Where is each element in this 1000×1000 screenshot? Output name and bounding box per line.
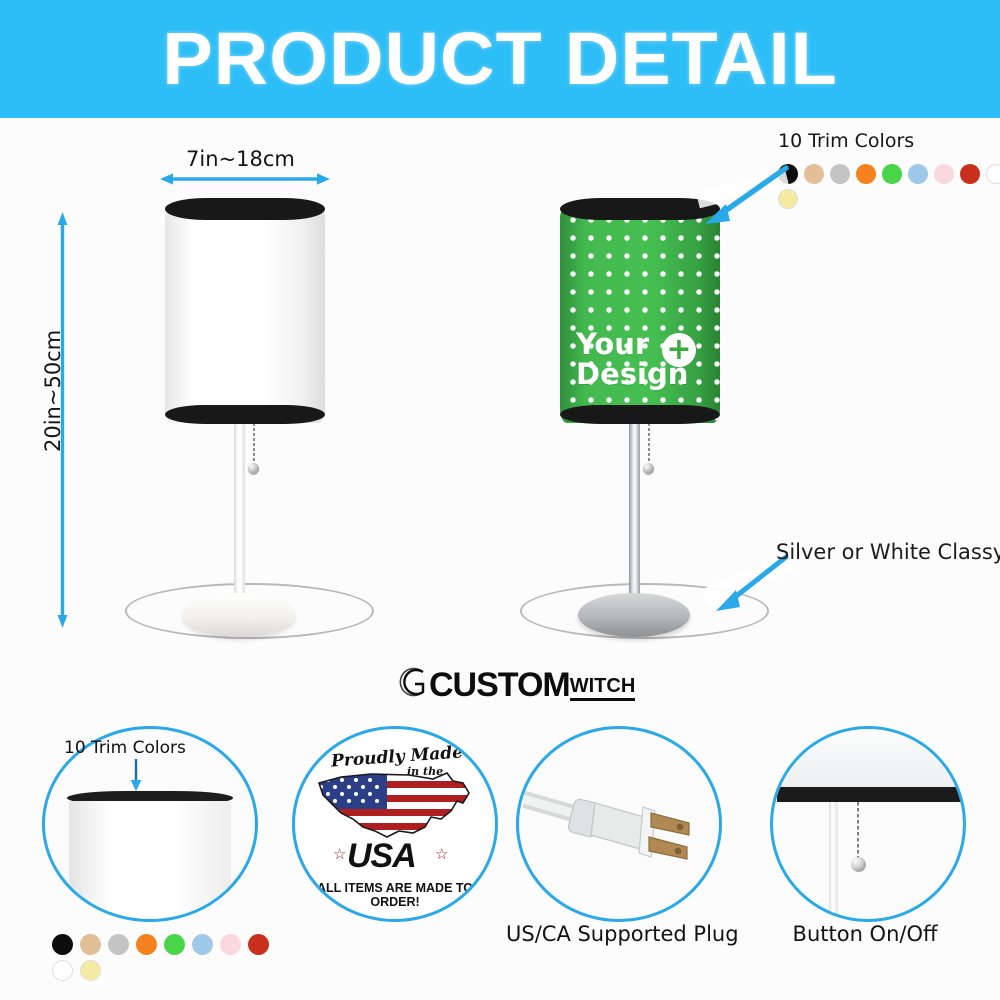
- trim-colors-top-title: 10 Trim Colors: [778, 130, 1000, 152]
- plus-glyph: +: [666, 337, 691, 363]
- feature-trim-title: 10 Trim Colors: [64, 738, 186, 758]
- trim-swatch-tan[interactable]: [804, 164, 824, 184]
- brand-name-sub: WITCH: [570, 675, 636, 701]
- brand-name-main: CUSTOM: [429, 669, 570, 701]
- feature-circle-plug: [516, 726, 722, 922]
- trim-color-swatches-bottom: [52, 934, 282, 981]
- feature-switch: Button On/Off: [770, 726, 1000, 976]
- trim-swatch-green[interactable]: [882, 164, 902, 184]
- brand-mark-icon: [398, 665, 432, 699]
- lamp-shade-white: [165, 205, 325, 423]
- pull-chain: [648, 423, 650, 467]
- shade-bottom-sample: [770, 726, 966, 791]
- usa-big-text: USA: [347, 837, 416, 876]
- header-banner: PRODUCT DETAIL: [0, 0, 1000, 118]
- shade-surface: Your Design +: [560, 205, 720, 423]
- lamp-pole: [234, 423, 245, 613]
- power-plug-icon: [523, 759, 715, 889]
- plus-icon: +: [662, 333, 696, 367]
- lamp-pole: [629, 423, 640, 613]
- lamp-white: [95, 195, 395, 645]
- trim-swatch-gray[interactable]: [830, 164, 850, 184]
- shade-surface: [165, 205, 325, 423]
- base-finish-label: Silver or White Classy: [776, 540, 1000, 564]
- trim-swatch-tan[interactable]: [80, 934, 101, 955]
- lamp-pole-sample: [829, 802, 838, 920]
- shade-trim-bottom: [165, 405, 325, 424]
- pull-chain-ball: [643, 463, 654, 474]
- trim-swatch-red[interactable]: [248, 934, 269, 955]
- trim-swatch-pink[interactable]: [220, 934, 241, 955]
- feature-made-in-usa: Proudly Made in the: [292, 726, 502, 926]
- pull-chain: [253, 423, 255, 467]
- pull-chain-ball: [248, 463, 259, 474]
- shade-surface-sample: [69, 801, 231, 921]
- page-title: PRODUCT DETAIL: [162, 22, 837, 96]
- lamp-base: [183, 593, 295, 637]
- usa-subtitle: ALL ITEMS ARE MADE TO ORDER!: [301, 881, 489, 909]
- trim-swatch-light-blue[interactable]: [192, 934, 213, 955]
- feature-plug: US/CA Supported Plug: [516, 726, 766, 976]
- brand-logo: CUSTOM WITCH: [398, 665, 635, 701]
- trim-colors-top-group: 10 Trim Colors: [778, 130, 1000, 209]
- feature-switch-caption: Button On/Off: [770, 922, 960, 946]
- usa-star-left: ☆: [333, 845, 346, 863]
- trim-swatch-gray[interactable]: [108, 934, 129, 955]
- trim-swatch-green[interactable]: [164, 934, 185, 955]
- trim-swatch-pink[interactable]: [934, 164, 954, 184]
- shade-trim-top: [165, 198, 325, 220]
- trim-swatch-white[interactable]: [52, 960, 73, 981]
- trim-swatch-light-blue[interactable]: [908, 164, 928, 184]
- trim-swatch-pale-yellow[interactable]: [80, 960, 101, 981]
- height-dimension-label: 20in~50cm: [41, 332, 65, 452]
- trim-swatch-orange[interactable]: [856, 164, 876, 184]
- width-dimension-label: 7in~18cm: [186, 147, 295, 171]
- infographic-canvas: PRODUCT DETAIL 10 Trim Colors 20in~50cm …: [0, 0, 1000, 1000]
- trim-down-arrow-icon: [128, 759, 144, 791]
- shade-trim-bottom: [560, 405, 720, 424]
- shade-trim-sample: [777, 787, 963, 802]
- width-dimension-arrow: [160, 172, 330, 186]
- trim-swatch-red[interactable]: [960, 164, 980, 184]
- lamp-shade-green: Your Design +: [560, 205, 720, 423]
- pull-chain-sample: [857, 802, 859, 862]
- trim-swatch-black[interactable]: [52, 934, 73, 955]
- lamp-base: [578, 593, 690, 637]
- usa-map-flag-icon: [313, 767, 477, 847]
- feature-circle-usa: Proudly Made in the: [292, 726, 498, 922]
- trim-swatch-white[interactable]: [986, 164, 1000, 184]
- feature-plug-caption: US/CA Supported Plug: [506, 922, 728, 946]
- pull-chain-ball-sample: [851, 857, 866, 872]
- trim-callout-arrow: [690, 158, 800, 233]
- trim-swatch-orange[interactable]: [136, 934, 157, 955]
- feature-circle-switch: [770, 726, 966, 922]
- usa-star-right: ☆: [435, 845, 448, 863]
- trim-color-swatches-top: [778, 164, 1000, 209]
